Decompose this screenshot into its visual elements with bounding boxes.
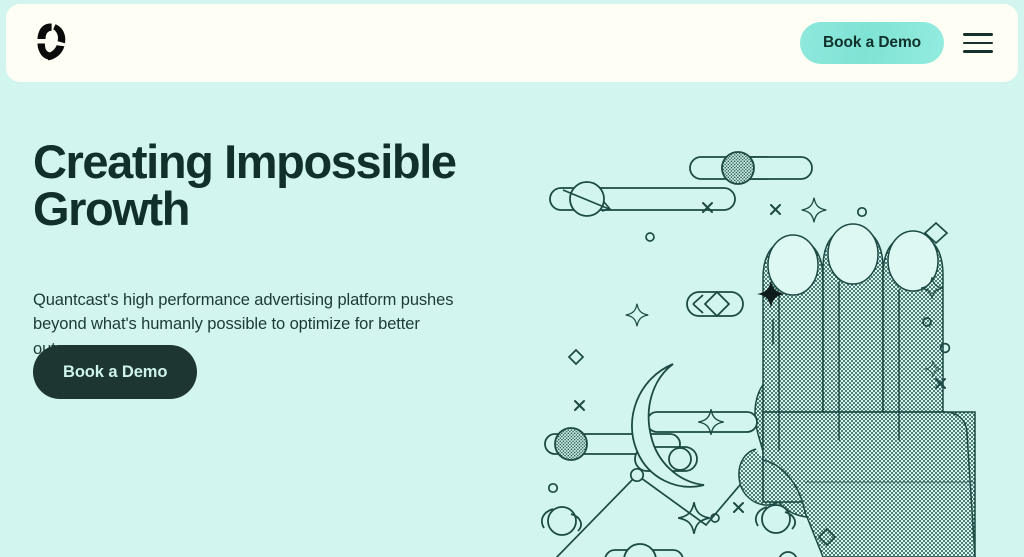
x-mark-icon-2 [771, 205, 780, 214]
page-title-line-2: Growth [33, 182, 189, 235]
small-circle-icon-7 [779, 552, 797, 557]
hero-illustration [505, 82, 1024, 557]
header-book-a-demo-button[interactable]: Book a Demo [800, 22, 944, 64]
slider-control-2 [550, 182, 735, 216]
hamburger-line-1 [963, 33, 993, 36]
sparkle-icon-2 [678, 502, 710, 534]
x-mark-icon-5 [734, 503, 743, 512]
sparkle-icon-1 [626, 304, 649, 327]
header-container: Book a Demo [0, 0, 1024, 82]
quantcast-logo[interactable] [28, 19, 74, 67]
slider-control-4 [647, 409, 757, 435]
hero-book-a-demo-button[interactable]: Book a Demo [33, 345, 197, 399]
small-circle-icon-5 [549, 484, 557, 492]
diamond-icon-2 [569, 350, 583, 364]
slider-control-5 [605, 544, 683, 557]
page-title-line-1: Creating Impossible [33, 135, 456, 188]
toggle-switch-1 [687, 292, 743, 316]
small-circle-icon-1 [646, 233, 654, 241]
x-mark-icon-4 [575, 401, 584, 410]
hero-section: Creating Impossible Growth Quantcast's h… [0, 82, 1024, 557]
small-circle-icon-2 [858, 208, 866, 216]
page-title: Creating Impossible Growth [33, 138, 503, 232]
hamburger-menu-icon[interactable] [956, 21, 1000, 65]
planet-saturn-icon-2 [542, 507, 581, 535]
hamburger-line-3 [963, 50, 993, 53]
site-header: Book a Demo [6, 4, 1018, 82]
sparkle-icon-3 [802, 198, 827, 223]
landing-page: Book a Demo Creating Impossible Growth Q… [0, 0, 1024, 557]
slider-control-1 [690, 152, 812, 184]
hero-copy: Creating Impossible Growth Quantcast's h… [33, 138, 503, 361]
hamburger-line-2 [963, 42, 993, 45]
